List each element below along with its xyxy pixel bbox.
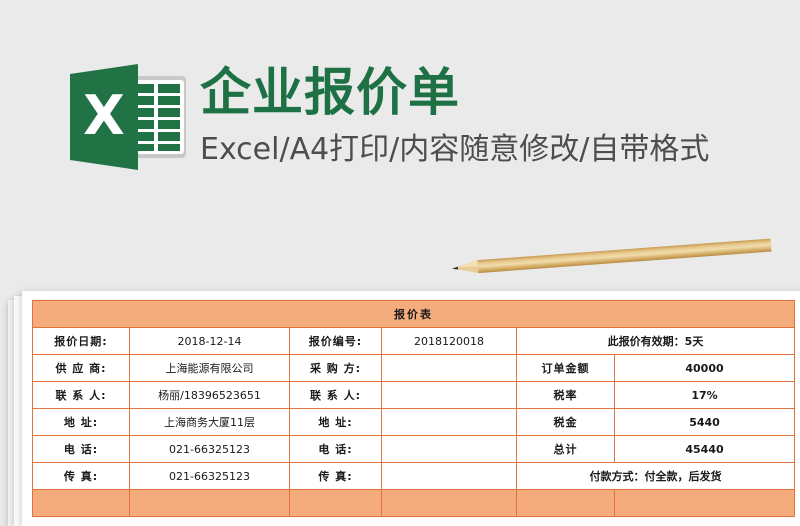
items-col-5 xyxy=(517,490,615,517)
table-row: 联 系 人: 杨丽/18396523651 联 系 人: 税率 17% xyxy=(33,382,795,409)
supplier-value[interactable]: 上海能源有限公司 xyxy=(130,355,290,382)
promo-banner: X 企业报价单 Excel/A4打印/内容随意修改/自带格式 xyxy=(0,0,800,230)
table-title: 报价表 xyxy=(33,301,795,328)
buyer-contact-label: 联 系 人: xyxy=(290,382,382,409)
table-row: 供 应 商: 上海能源有限公司 采 购 方: 订单金额 40000 xyxy=(33,355,795,382)
items-col-6 xyxy=(615,490,795,517)
buyer-contact-value[interactable] xyxy=(382,382,517,409)
supplier-label: 供 应 商: xyxy=(33,355,130,382)
table-row: 地 址: 上海商务大厦11层 地 址: 税金 5440 xyxy=(33,409,795,436)
screenshot-page: X 企业报价单 Excel/A4打印/内容随意修改/自带格式 xyxy=(0,0,800,526)
tax-rate-label: 税率 xyxy=(517,382,615,409)
grand-total-value[interactable]: 45440 xyxy=(615,436,795,463)
quote-number-value[interactable]: 2018120018 xyxy=(382,328,517,355)
page-title: 企业报价单 xyxy=(200,62,800,126)
order-amount-value[interactable]: 40000 xyxy=(615,355,795,382)
grand-total-label: 总计 xyxy=(517,436,615,463)
supplier-fax-value[interactable]: 021-66325123 xyxy=(130,463,290,490)
buyer-address-label: 地 址: xyxy=(290,409,382,436)
supplier-address-value[interactable]: 上海商务大厦11层 xyxy=(130,409,290,436)
buyer-phone-value[interactable] xyxy=(382,436,517,463)
buyer-fax-value[interactable] xyxy=(382,463,517,490)
buyer-phone-label: 电 话: xyxy=(290,436,382,463)
supplier-contact-label: 联 系 人: xyxy=(33,382,130,409)
buyer-fax-label: 传 真: xyxy=(290,463,382,490)
quote-document: 报价表 报价日期: 2018-12-14 报价编号: 2018120018 此报… xyxy=(22,291,800,526)
table-row: 传 真: 021-66325123 传 真: 付款方式：付全款，后发货 xyxy=(33,463,795,490)
excel-logo-icon: X xyxy=(68,62,192,172)
items-col-3 xyxy=(290,490,382,517)
supplier-contact-value[interactable]: 杨丽/18396523651 xyxy=(130,382,290,409)
table-row: 电 话: 021-66325123 电 话: 总计 45440 xyxy=(33,436,795,463)
tax-rate-value[interactable]: 17% xyxy=(615,382,795,409)
banner-text-block: 企业报价单 Excel/A4打印/内容随意修改/自带格式 xyxy=(200,62,800,172)
supplier-phone-value[interactable]: 021-66325123 xyxy=(130,436,290,463)
table-row: 报价日期: 2018-12-14 报价编号: 2018120018 此报价有效期… xyxy=(33,328,795,355)
buyer-address-value[interactable] xyxy=(382,409,517,436)
items-table-header-strip xyxy=(33,490,795,517)
quote-date-label: 报价日期: xyxy=(33,328,130,355)
buyer-label: 采 购 方: xyxy=(290,355,382,382)
tax-amount-value[interactable]: 5440 xyxy=(615,409,795,436)
payment-terms-note: 付款方式：付全款，后发货 xyxy=(517,463,795,490)
supplier-phone-label: 电 话: xyxy=(33,436,130,463)
quote-number-label: 报价编号: xyxy=(290,328,382,355)
supplier-fax-label: 传 真: xyxy=(33,463,130,490)
buyer-value[interactable] xyxy=(382,355,517,382)
quote-table: 报价表 报价日期: 2018-12-14 报价编号: 2018120018 此报… xyxy=(32,300,795,517)
page-subtitle: Excel/A4打印/内容随意修改/自带格式 xyxy=(200,128,800,172)
order-amount-label: 订单金额 xyxy=(517,355,615,382)
supplier-address-label: 地 址: xyxy=(33,409,130,436)
pencil-icon xyxy=(451,235,772,280)
quote-date-value[interactable]: 2018-12-14 xyxy=(130,328,290,355)
table-title-row: 报价表 xyxy=(33,301,795,328)
validity-note: 此报价有效期：5天 xyxy=(517,328,795,355)
items-col-2 xyxy=(130,490,290,517)
tax-amount-label: 税金 xyxy=(517,409,615,436)
items-col-4 xyxy=(382,490,517,517)
svg-text:X: X xyxy=(83,84,125,147)
items-col-1 xyxy=(33,490,130,517)
